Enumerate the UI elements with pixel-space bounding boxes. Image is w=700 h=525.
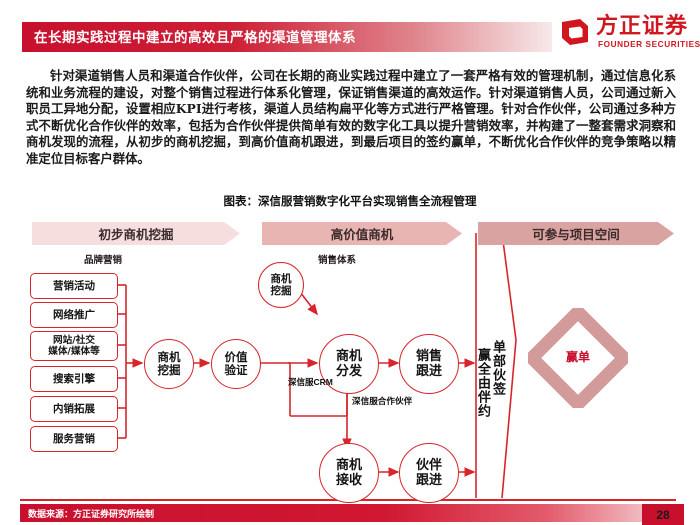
banner-stage-1: 初步商机挖掘 bbox=[32, 222, 240, 245]
funnel-vertical-text-right: 单部伙签 bbox=[489, 340, 505, 436]
node-label-line2: 分发 bbox=[336, 364, 362, 379]
banner-stage-3: 可参与项目空间 bbox=[478, 222, 674, 245]
logo-text-cn: 方正证券 bbox=[596, 13, 688, 39]
node-label-line1: 伙伴 bbox=[416, 458, 442, 473]
node-label-line2: 跟进 bbox=[416, 473, 442, 488]
node-opportunity-mining[interactable]: 商机 挖掘 bbox=[144, 339, 194, 389]
box-label-line2: 媒体/媒体等 bbox=[48, 346, 99, 357]
node-partner-followup[interactable]: 伙伴 跟进 bbox=[399, 443, 459, 503]
node-label-line2: 挖掘 bbox=[271, 285, 292, 297]
node-label-line1: 商机 bbox=[271, 273, 292, 285]
box-label: 网络推广 bbox=[53, 310, 95, 321]
list-item-domestic-expansion[interactable]: 内销拓展 bbox=[30, 396, 118, 422]
node-sales-followup[interactable]: 销售 跟进 bbox=[399, 334, 459, 394]
list-item-search-engine[interactable]: 搜索引擎 bbox=[30, 366, 118, 392]
page-header: 在长期实践过程中建立的高效且严格的渠道管理体系 方正证券 FOUNDER SEC… bbox=[0, 0, 700, 62]
node-label-line1: 销售 bbox=[416, 349, 442, 364]
data-source-text: 数据来源：方正证券研究所绘制 bbox=[28, 507, 154, 520]
wire-label-partner: 深信服合作伙伴 bbox=[352, 395, 412, 407]
node-label-line2: 接收 bbox=[336, 473, 362, 488]
body-paragraph: 针对渠道销售人员和渠道合作伙伴，公司在长期的商业实践过程中建立了一套严格有效的管… bbox=[26, 68, 676, 168]
figure-caption: 图表：深信服营销数字化平台实现销售全流程管理 bbox=[0, 193, 700, 209]
list-item-marketing-activity[interactable]: 营销活动 bbox=[30, 273, 118, 299]
node-opportunity-mining-small[interactable]: 商机 挖掘 bbox=[258, 262, 304, 308]
brand-logo: 方正证券 FOUNDER SECURITIES bbox=[556, 13, 692, 53]
box-label: 服务营销 bbox=[53, 434, 95, 445]
node-label-line2: 跟进 bbox=[416, 364, 442, 379]
page-number: 28 bbox=[642, 504, 684, 525]
node-label-line2: 验证 bbox=[225, 364, 248, 377]
node-value-verification[interactable]: 价值 验证 bbox=[211, 339, 261, 389]
node-label-line1: 商机 bbox=[336, 458, 362, 473]
node-label-line2: 挖掘 bbox=[158, 364, 181, 377]
page-title: 在长期实践过程中建立的高效且严格的渠道管理体系 bbox=[34, 26, 356, 46]
node-opportunity-receive[interactable]: 商机 接收 bbox=[319, 443, 379, 503]
list-item-online-promotion[interactable]: 网络推广 bbox=[30, 302, 118, 328]
node-label-line1: 商机 bbox=[336, 349, 362, 364]
list-item-service-marketing[interactable]: 服务营销 bbox=[30, 426, 118, 452]
founder-securities-logo-icon bbox=[560, 17, 590, 47]
box-label-line1: 网站/社交 bbox=[53, 335, 95, 346]
list-item-website-social-media[interactable]: 网站/社交 媒体/媒体等 bbox=[30, 331, 118, 361]
banner-stage-2: 高价值商机 bbox=[262, 222, 462, 245]
box-label: 内销拓展 bbox=[53, 404, 95, 415]
box-label: 搜索引擎 bbox=[53, 374, 95, 385]
wire-label-crm: 深信服CRM bbox=[288, 376, 333, 388]
flow-diagram: 初步商机挖掘 高价值商机 可参与项目空间 品牌营销 销售体系 营销活动 网络推广… bbox=[0, 210, 700, 502]
logo-text-en: FOUNDER SECURITIES bbox=[598, 40, 700, 49]
win-deal-label: 赢单 bbox=[528, 348, 628, 365]
funnel-vertical-text-left: 赢全由伴约 bbox=[474, 348, 490, 444]
box-label: 营销活动 bbox=[53, 281, 95, 292]
sublabel-brand-marketing: 品牌营销 bbox=[84, 252, 122, 266]
sublabel-sales-system: 销售体系 bbox=[318, 252, 356, 266]
